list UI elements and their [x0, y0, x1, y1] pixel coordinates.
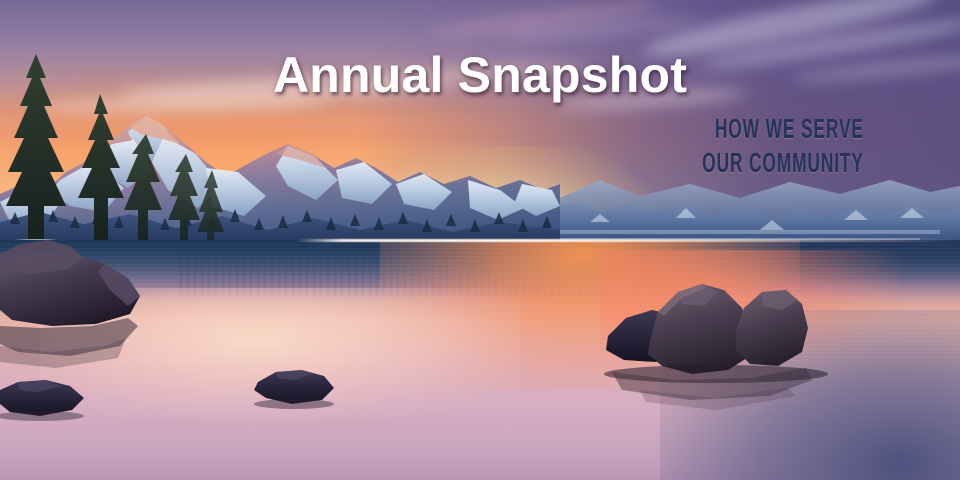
subtitle-line-1: HOW WE SERVE: [702, 112, 864, 146]
small-rock-corner: [0, 380, 84, 421]
small-rock-left: [254, 370, 334, 409]
banner-hero: Annual Snapshot HOW WE SERVE OUR COMMUNI…: [0, 0, 960, 480]
left-shore-rocks: [0, 240, 140, 368]
page-title: Annual Snapshot: [0, 46, 960, 104]
right-boulder-group: [604, 284, 828, 410]
subtitle-block: HOW WE SERVE OUR COMMUNITY: [702, 112, 864, 180]
foreground-boulders: [0, 240, 960, 480]
subtitle-line-2: OUR COMMUNITY: [702, 146, 864, 180]
